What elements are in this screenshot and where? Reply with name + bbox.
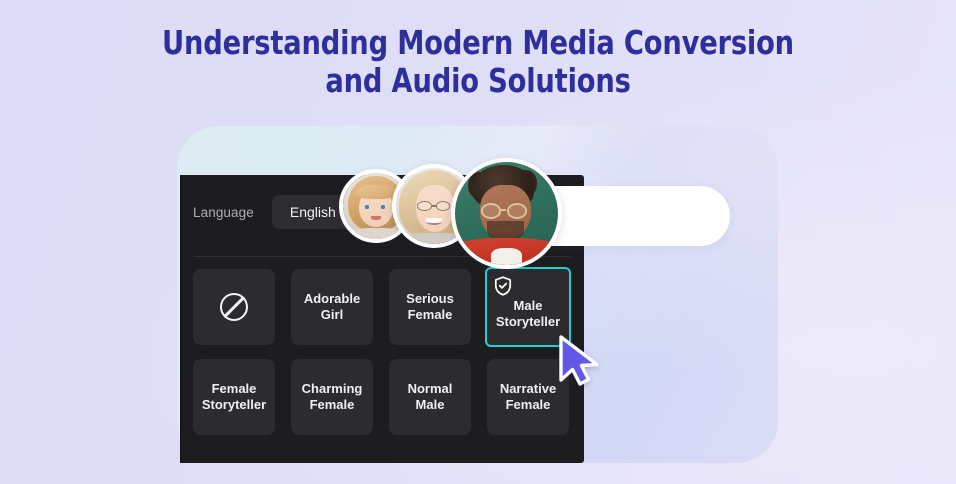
voice-tile-adorable-girl[interactable]: Adorable Girl <box>291 269 373 345</box>
voice-label-line-1: Adorable <box>304 291 360 306</box>
page-title-line-1: Understanding Modern Media Conversion <box>162 23 794 62</box>
screenshot-root: Understanding Modern Media Conversion an… <box>0 0 956 484</box>
voice-tile-serious-female[interactable]: Serious Female <box>389 269 471 345</box>
voice-tile-label: Normal Male <box>408 381 453 413</box>
voice-tile-label: Serious Female <box>406 291 454 323</box>
voice-tile-none[interactable] <box>193 269 275 345</box>
voice-label-line-2: Female <box>310 397 355 412</box>
language-label: Language <box>193 205 254 220</box>
avatar-man <box>451 158 562 269</box>
mouse-cursor <box>557 334 603 386</box>
page-title: Understanding Modern Media Conversion an… <box>38 24 918 100</box>
voice-label-line-2: Male <box>416 397 445 412</box>
voice-label-line-2: Storyteller <box>496 314 560 329</box>
voice-label-line-1: Serious <box>406 291 454 306</box>
voice-tile-label: Adorable Girl <box>304 291 360 323</box>
voice-tile-normal-male[interactable]: Normal Male <box>389 359 471 435</box>
voice-tile-label: Charming Female <box>302 381 363 413</box>
voice-label-line-2: Female <box>506 397 551 412</box>
voice-label-line-2: Storyteller <box>202 397 266 412</box>
voice-tile-charming-female[interactable]: Charming Female <box>291 359 373 435</box>
voice-label-line-1: Narrative <box>500 381 556 396</box>
voice-tile-female-storyteller[interactable]: Female Storyteller <box>193 359 275 435</box>
voice-label-line-2: Female <box>408 307 453 322</box>
voice-grid: Adorable Girl Serious Female Male Storyt… <box>193 269 571 435</box>
voice-label-line-1: Male <box>514 298 543 313</box>
voice-label-line-1: Female <box>212 381 257 396</box>
voice-tile-label: Narrative Female <box>500 381 556 413</box>
voice-label-line-1: Normal <box>408 381 453 396</box>
voice-label-line-1: Charming <box>302 381 363 396</box>
voice-label-line-2: Girl <box>321 307 343 322</box>
shield-check-icon <box>494 276 512 296</box>
prohibited-icon <box>220 293 248 321</box>
voice-tile-label: Female Storyteller <box>202 381 266 413</box>
page-title-line-2: and Audio Solutions <box>38 62 918 100</box>
